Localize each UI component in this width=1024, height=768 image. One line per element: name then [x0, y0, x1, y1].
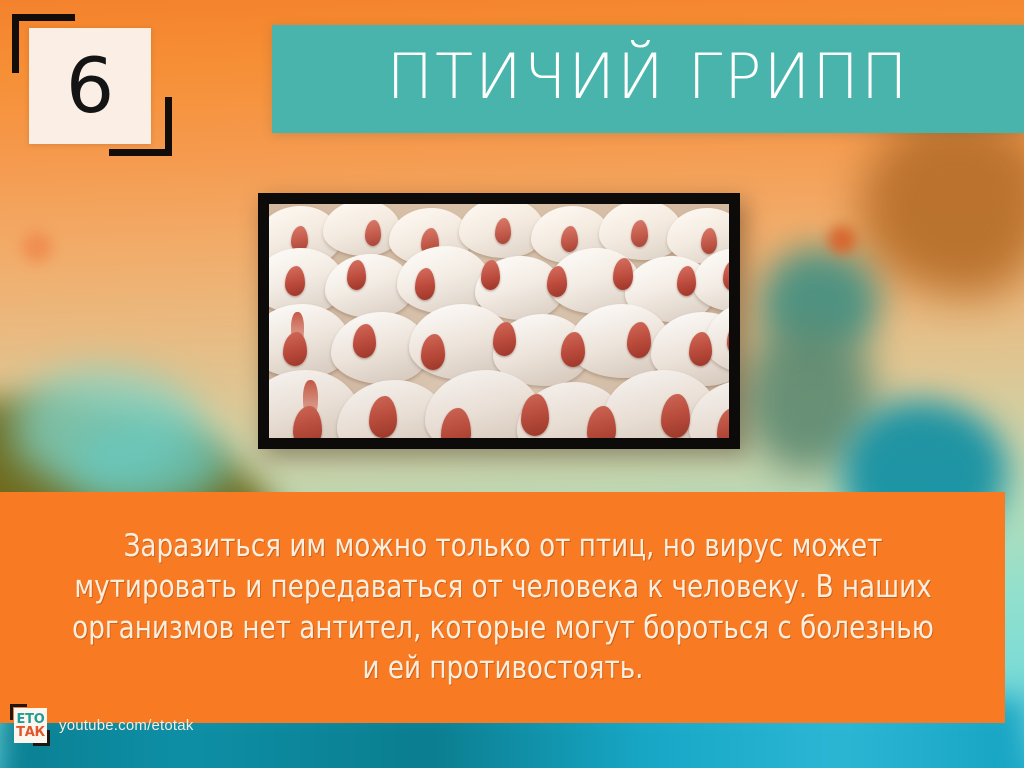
slide-root: 6 ПТИЧИЙ ГРИПП — [0, 0, 1024, 768]
slide-number-box: 6 — [29, 28, 151, 144]
watermark: ЕТО ТАК youtube.com/etotak — [10, 704, 194, 746]
slide-number-badge: 6 — [12, 14, 172, 156]
photo-frame — [258, 193, 740, 449]
watermark-url: youtube.com/etotak — [59, 717, 194, 734]
logo-box: ЕТО ТАК — [14, 708, 47, 743]
slide-number-text: 6 — [66, 48, 114, 124]
title-banner: ПТИЧИЙ ГРИПП — [272, 25, 1024, 133]
page-title: ПТИЧИЙ ГРИПП — [386, 46, 909, 108]
logo-text-tak: ТАК — [16, 726, 45, 739]
logo-text-eto: ЕТО — [17, 713, 45, 726]
etotak-logo-icon: ЕТО ТАК — [10, 704, 50, 746]
body-text: Заразиться им можно только от птиц, но в… — [61, 526, 945, 690]
background-dot-left — [22, 232, 52, 262]
turkey-flock-photo — [269, 204, 729, 438]
background-dot-right — [828, 226, 856, 254]
photo-haze-overlay — [269, 204, 729, 438]
body-text-panel: Заразиться им можно только от птиц, но в… — [0, 492, 1005, 723]
